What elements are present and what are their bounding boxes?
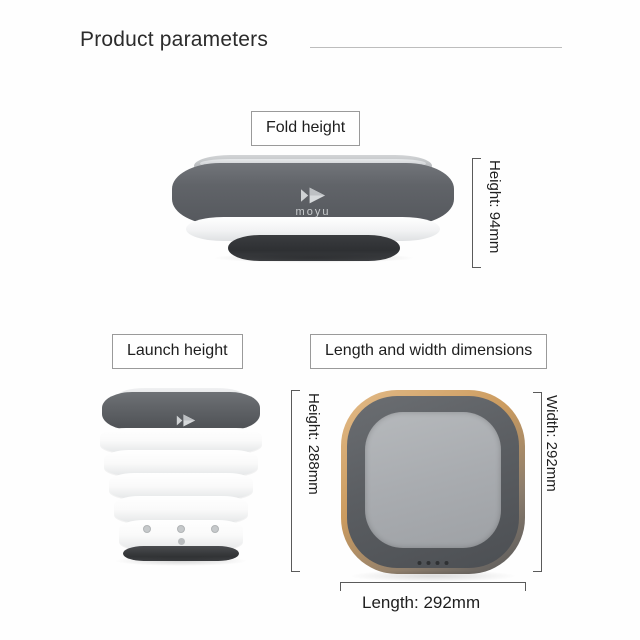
topview-dot [427,561,431,565]
brand-logo-folded: moyu [280,187,346,218]
page-title: Product parameters [80,28,268,52]
control-indicator [178,538,185,545]
dimension-bracket-length [340,582,526,591]
dimension-bracket-fold-height [472,158,481,268]
topview-dot [418,561,422,565]
caption-length-width: Length and width dimensions [310,334,547,369]
topview-dot [445,561,449,565]
caption-fold-height: Fold height [251,111,360,146]
folded-product-image: moyu [172,155,454,265]
topview-dot-row [418,561,449,565]
control-button [211,525,219,533]
expanded-ground-shadow [114,556,248,566]
caption-launch-height: Launch height [112,334,243,369]
control-button [143,525,151,533]
bellows-rib [114,496,248,523]
dimension-bracket-width [533,392,542,572]
moyu-double-arrow-logo-icon [176,414,196,427]
control-button [177,525,185,533]
dimension-label-launch-height: Height: 288mm [305,393,322,495]
topview-product-image [341,390,525,574]
title-divider [310,47,562,48]
folded-body: moyu [172,163,454,225]
dimension-label-fold-height: Height: 94mm [486,160,503,253]
expanded-lid: moyu [102,392,260,430]
dimension-label-width: Width: 292mm [543,395,560,492]
dimension-label-length: Length: 292mm [362,593,480,613]
topview-ground-shadow [351,570,515,582]
expanded-product-image: moyu [96,388,266,574]
topview-inner-panel [365,412,501,548]
product-parameters-infographic: Product parameters Fold height moyu Heig… [0,0,640,640]
control-indicator-group [166,538,196,545]
moyu-double-arrow-logo-icon [300,187,326,204]
dimension-bracket-launch-height [291,390,300,572]
folded-ground-shadow [212,253,416,263]
topview-dot [436,561,440,565]
